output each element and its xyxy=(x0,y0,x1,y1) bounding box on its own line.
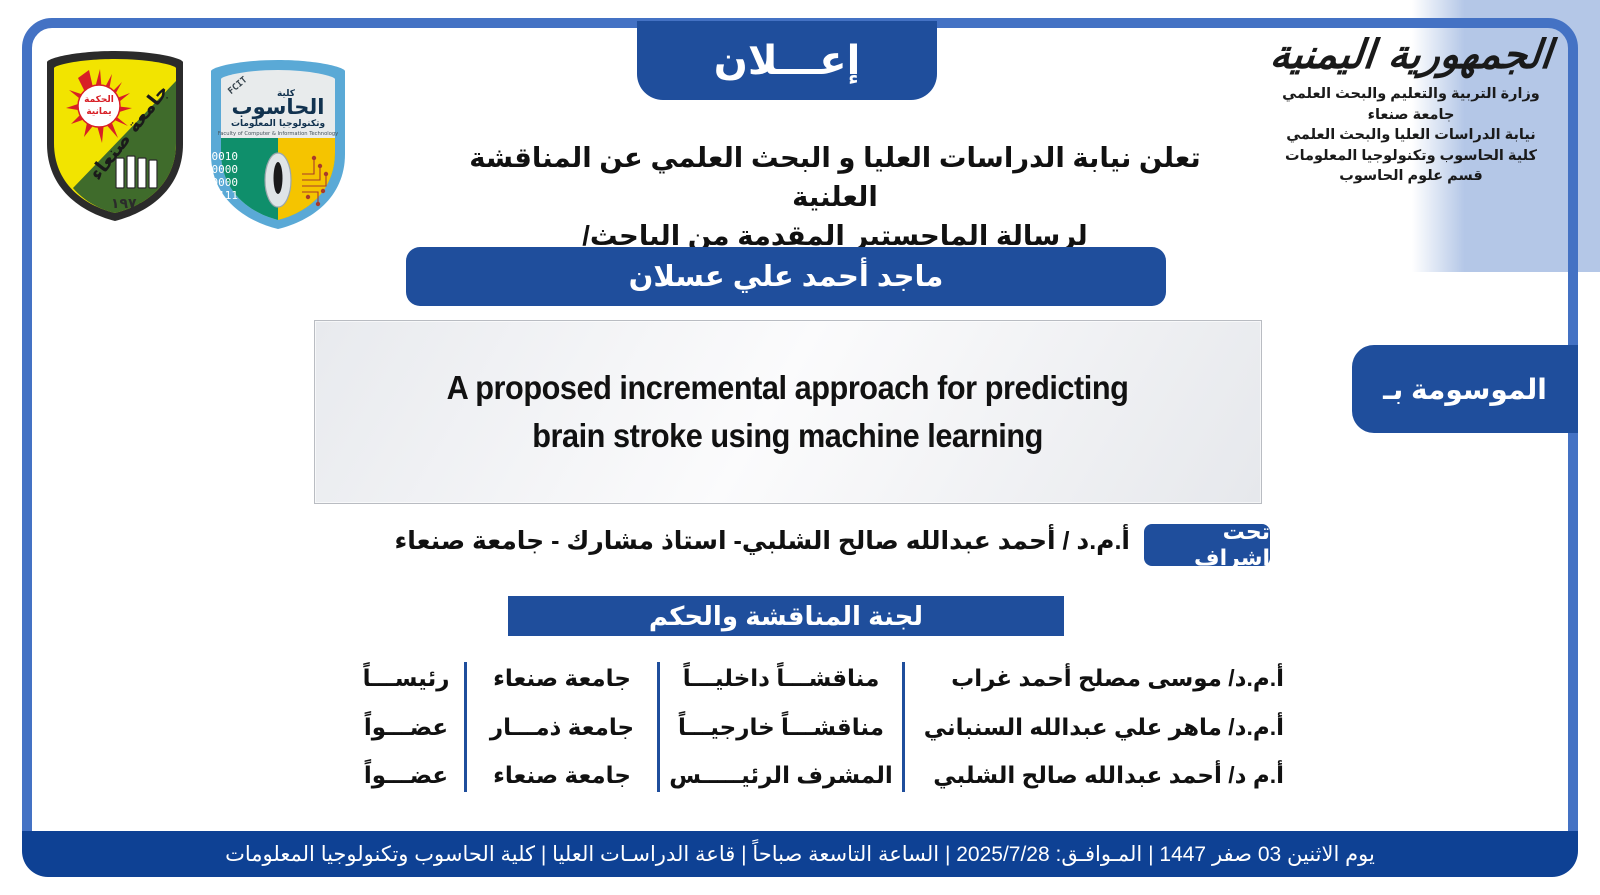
table-row: جامعة صنعاء xyxy=(466,662,658,695)
svg-text:0000: 0000 xyxy=(212,163,239,176)
sanaa-logo-motto-line2: يمانية xyxy=(86,107,111,117)
svg-text:0111: 0111 xyxy=(212,189,239,202)
fcit-logo-binary: 0010 0000 0000 0111 xyxy=(212,150,239,202)
researcher-name-band: ماجد أحمد علي عسلان xyxy=(406,247,1166,306)
thesis-title-box: A proposed incremental approach for pred… xyxy=(314,320,1262,504)
footer-text: يوم الاثنين 03 صفر 1447 | المـوافـق: 202… xyxy=(225,842,1375,867)
ministry-line-3: نيابة الدراسات العليا والبحث العلمي xyxy=(1256,125,1566,146)
svg-text:0010: 0010 xyxy=(212,150,239,163)
sanaa-logo-motto-line1: الحكمة xyxy=(84,95,114,105)
ministry-line-5: قسم علوم الحاسوب xyxy=(1256,166,1566,187)
committee-universities-column: جامعة صنعاء جامعة ذمـــار جامعة صنعاء xyxy=(466,662,658,792)
table-row: جامعة صنعاء xyxy=(466,759,658,792)
table-row: جامعة ذمـــار xyxy=(466,711,658,744)
table-row: أ.م.د/ موسى مصلح أحمد غراب xyxy=(904,662,1298,695)
committee-names-column: أ.م.د/ موسى مصلح أحمد غراب أ.م.د/ ماهر ع… xyxy=(904,662,1298,792)
announcement-badge-label: إعـــلان xyxy=(714,38,861,84)
table-row: أ.م.د/ ماهر علي عبدالله السنباني xyxy=(904,711,1298,744)
table-row: رئيســـاً xyxy=(347,662,465,695)
table-row: عضـــواً xyxy=(347,759,465,792)
republic-script-title: الجمهورية اليمنية xyxy=(1254,32,1569,78)
entitled-tab: الموسومة بـ xyxy=(1352,345,1578,433)
ministry-line-1: وزارة التربية والتعليم والبحث العلمي xyxy=(1256,84,1566,105)
supervision-badge: تحت إشراف xyxy=(1144,524,1270,566)
entitled-tab-label: الموسومة بـ xyxy=(1383,373,1547,406)
supervisor-name: أ.م.د / أحمد عبدالله صالح الشلبي- استاذ … xyxy=(394,526,1130,556)
thesis-title-line-2: brain stroke using machine learning xyxy=(533,412,1044,460)
svg-text:0000: 0000 xyxy=(212,176,239,189)
announcement-paragraph: تعلن نيابة الدراسات العليا و البحث العلم… xyxy=(440,138,1230,255)
researcher-name: ماجد أحمد علي عسلان xyxy=(629,259,944,294)
table-row: مناقشـــاً خارجيـــاً xyxy=(659,711,903,744)
supervision-badge-label: تحت إشراف xyxy=(1144,519,1270,571)
table-row: عضـــواً xyxy=(347,711,465,744)
table-row: المشرف الرئيـــــس xyxy=(659,759,903,792)
ministry-line-2: جامعة صنعاء xyxy=(1256,105,1566,126)
committee-header-label: لجنة المناقشة والحكم xyxy=(649,601,923,632)
footer-bar: يوم الاثنين 03 صفر 1447 | المـوافـق: 202… xyxy=(22,831,1578,877)
table-row: أ.م د/ أحمد عبدالله صالح الشلبي xyxy=(904,759,1298,792)
committee-table: أ.م.د/ موسى مصلح أحمد غراب أ.م.د/ ماهر ع… xyxy=(346,662,1298,792)
committee-header-band: لجنة المناقشة والحكم xyxy=(508,596,1064,636)
announcement-poster: إعـــلان الحكمة يمانية جامعة صنعاء ١٩٧٠ xyxy=(0,0,1600,895)
fcit-college-logo: كلية الحاسوب وتكنولوجيا المعلومات Facult… xyxy=(198,56,358,232)
sanaa-logo-year: ١٩٧٠ xyxy=(111,196,145,212)
fcit-logo-main: الحاسوب xyxy=(231,95,324,119)
fcit-logo-english: Faculty of Computer & Information Techno… xyxy=(218,131,339,137)
sanaa-university-logo: الحكمة يمانية جامعة صنعاء ١٩٧٠ xyxy=(42,48,188,224)
ministry-header: الجمهورية اليمنية وزارة التربية والتعليم… xyxy=(1256,32,1566,187)
committee-roles-column: مناقشـــاً داخليـــاً مناقشـــاً خارجيــ… xyxy=(659,662,903,792)
announcement-badge: إعـــلان xyxy=(637,21,937,100)
table-row: مناقشـــاً داخليـــاً xyxy=(659,662,903,695)
committee-positions-column: رئيســـاً عضـــواً عضـــواً xyxy=(347,662,465,792)
thesis-title-line-1: A proposed incremental approach for pred… xyxy=(447,364,1129,412)
announcement-line-1: تعلن نيابة الدراسات العليا و البحث العلم… xyxy=(440,138,1230,216)
fcit-logo-sub: وتكنولوجيا المعلومات xyxy=(231,119,325,129)
ministry-line-4: كلية الحاسوب وتكنولوجيا المعلومات xyxy=(1256,146,1566,167)
